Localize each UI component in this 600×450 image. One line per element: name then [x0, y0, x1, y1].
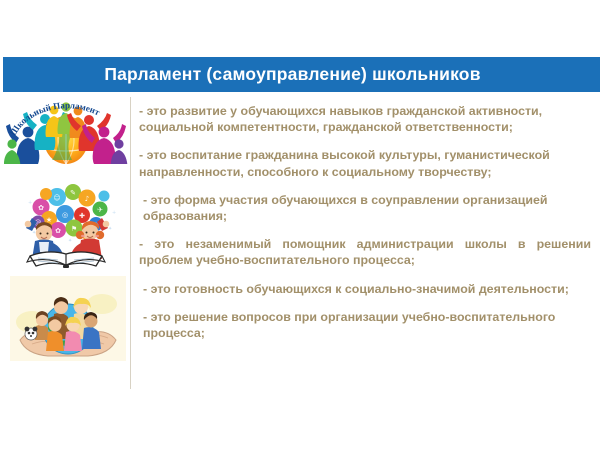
- bullet-item: - это решение вопросов при организации у…: [139, 309, 591, 341]
- svg-text:☺: ☺: [53, 194, 60, 202]
- svg-text:✦: ✦: [68, 238, 72, 244]
- kids-with-book-image: ✿☺ ✎♪ ✈★ ◎✚ ☀@ ✿⚑ ✂ ++ ✦✦ ✦·: [8, 170, 126, 270]
- title-banner: Парламент (самоуправление) школьников: [3, 57, 600, 92]
- bullet-item: - это форма участия обучающихся в соупра…: [139, 192, 591, 224]
- bullet-item: - это развитие у обучающихся навыков гра…: [139, 103, 591, 135]
- svg-text:✦: ✦: [32, 230, 36, 236]
- svg-text:⚑: ⚑: [71, 225, 77, 233]
- slide-canvas: Парламент (самоуправление) школьников: [0, 0, 600, 450]
- page-title: Парламент (самоуправление) школьников: [104, 64, 498, 85]
- kids-on-globe-image: [10, 276, 126, 361]
- svg-text:✿: ✿: [55, 227, 61, 235]
- svg-text:✿: ✿: [38, 204, 44, 212]
- bullet-item: - это незаменимый помощник администрации…: [139, 236, 591, 268]
- image-column: Школьный Парламент: [0, 94, 130, 364]
- column-divider: [130, 97, 131, 389]
- svg-text:✦: ✦: [108, 226, 112, 232]
- body-text-column: - это развитие у обучающихся навыков гра…: [139, 103, 591, 353]
- svg-text:✎: ✎: [70, 189, 76, 197]
- bullet-item: - это воспитание гражданина высокой куль…: [139, 147, 591, 179]
- svg-text:♪: ♪: [85, 195, 89, 203]
- svg-text:✈: ✈: [97, 206, 103, 214]
- svg-text:◎: ◎: [62, 211, 68, 219]
- bullet-item: - это готовность обучающихся к социально…: [139, 281, 591, 297]
- svg-text:✚: ✚: [79, 212, 85, 220]
- school-parliament-logo-image: Школьный Парламент: [4, 94, 128, 164]
- svg-text:+: +: [112, 210, 116, 216]
- svg-text:+: +: [28, 200, 32, 206]
